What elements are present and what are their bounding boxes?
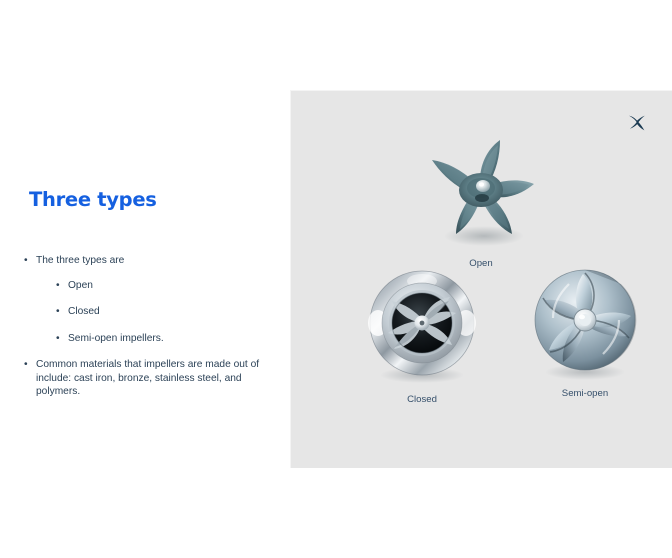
- bullet-glyph: •: [56, 279, 60, 293]
- bullet-glyph: •: [56, 332, 60, 346]
- list-item: • Closed: [54, 305, 282, 319]
- figure-semi-open-impeller: Semi-open: [508, 262, 662, 399]
- list-item: • Common materials that impellers are ma…: [22, 358, 282, 399]
- image-panel: Open: [290, 90, 672, 468]
- slide-canvas: Three types • The three types are • Open…: [0, 0, 672, 558]
- bullet-list: • The three types are • Open • Closed • …: [22, 254, 282, 407]
- sub-bullet-list: • Open • Closed • Semi-open impellers.: [22, 279, 282, 346]
- brand-x-mark-icon: [626, 112, 648, 134]
- list-item-label: Common materials that impellers are made…: [36, 358, 282, 399]
- list-item: • Open: [54, 279, 282, 293]
- list-item: • The three types are: [22, 254, 282, 268]
- figure-caption: Semi-open: [508, 388, 662, 399]
- semi-open-impeller-illustration: [525, 262, 645, 382]
- open-impeller-illustration: [414, 136, 548, 254]
- bullet-glyph: •: [24, 254, 28, 268]
- list-item-label: Semi-open impellers.: [68, 333, 164, 344]
- closed-impeller-illustration: [362, 265, 482, 385]
- list-item-label: Open: [68, 280, 93, 291]
- list-item: • Semi-open impellers.: [54, 332, 282, 346]
- bullet-glyph: •: [56, 305, 60, 319]
- bullet-glyph: •: [24, 358, 28, 372]
- list-item-label: Closed: [68, 306, 100, 317]
- figure-open-impeller: Open: [414, 136, 548, 269]
- list-item-label: The three types are: [36, 255, 124, 266]
- figure-closed-impeller: Closed: [345, 265, 499, 405]
- page-title: Three types: [29, 188, 157, 211]
- figure-caption: Closed: [345, 394, 499, 405]
